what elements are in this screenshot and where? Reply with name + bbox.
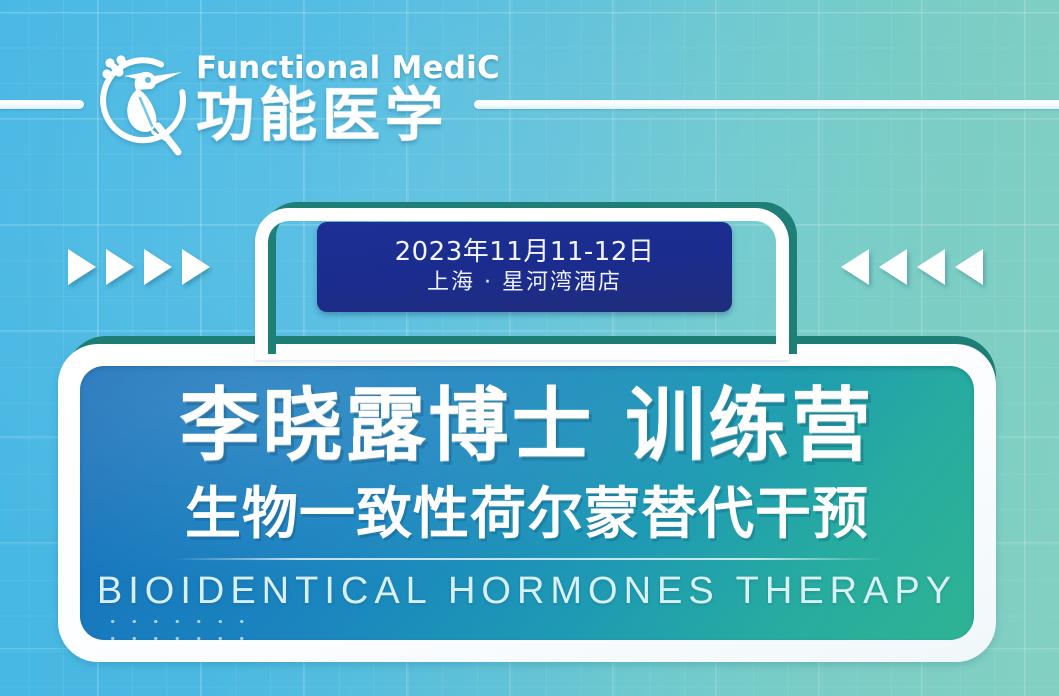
page-subtitle: 生物一致性荷尔蒙替代干预 <box>80 486 974 542</box>
play-left-icon-4 <box>955 249 983 285</box>
play-left-icon-3 <box>917 249 945 285</box>
bird-in-circle-logo <box>78 40 210 162</box>
play-left-icon-2 <box>879 249 907 285</box>
event-venue: 上海 · 星河湾酒店 <box>427 270 622 295</box>
poster-root: Functional MediC 功能医学 李晓露博士 训练营 生物一致性荷尔蒙… <box>0 0 1059 696</box>
header: Functional MediC 功能医学 <box>0 0 1059 175</box>
play-right-icon-2 <box>106 249 134 285</box>
event-info-badge: 2023年11月11-12日 上海 · 星河湾酒店 <box>317 222 732 312</box>
header-rule-left <box>0 100 84 109</box>
main-card-frame: 李晓露博士 训练营 生物一致性荷尔蒙替代干预 BIOIDENTICAL HORM… <box>58 344 996 662</box>
title-divider <box>172 558 884 560</box>
dot-grid-decoration <box>102 613 252 640</box>
brand-chinese-name: 功能医学 <box>196 86 448 144</box>
event-date: 2023年11月11-12日 <box>395 238 655 267</box>
badge-bracket-group: 2023年11月11-12日 上海 · 星河湾酒店 <box>255 196 805 371</box>
play-right-icon-1 <box>68 249 96 285</box>
right-arrow-decoration <box>841 249 983 285</box>
left-arrow-decoration <box>68 249 210 285</box>
main-card: 李晓露博士 训练营 生物一致性荷尔蒙替代干预 BIOIDENTICAL HORM… <box>80 366 974 640</box>
page-title: 李晓露博士 训练营 <box>80 386 974 466</box>
header-rule-right <box>474 100 1059 109</box>
page-title-english: BIOIDENTICAL HORMONES THERAPY <box>80 571 974 613</box>
play-left-icon-1 <box>841 249 869 285</box>
play-right-icon-4 <box>182 249 210 285</box>
play-right-icon-3 <box>144 249 172 285</box>
